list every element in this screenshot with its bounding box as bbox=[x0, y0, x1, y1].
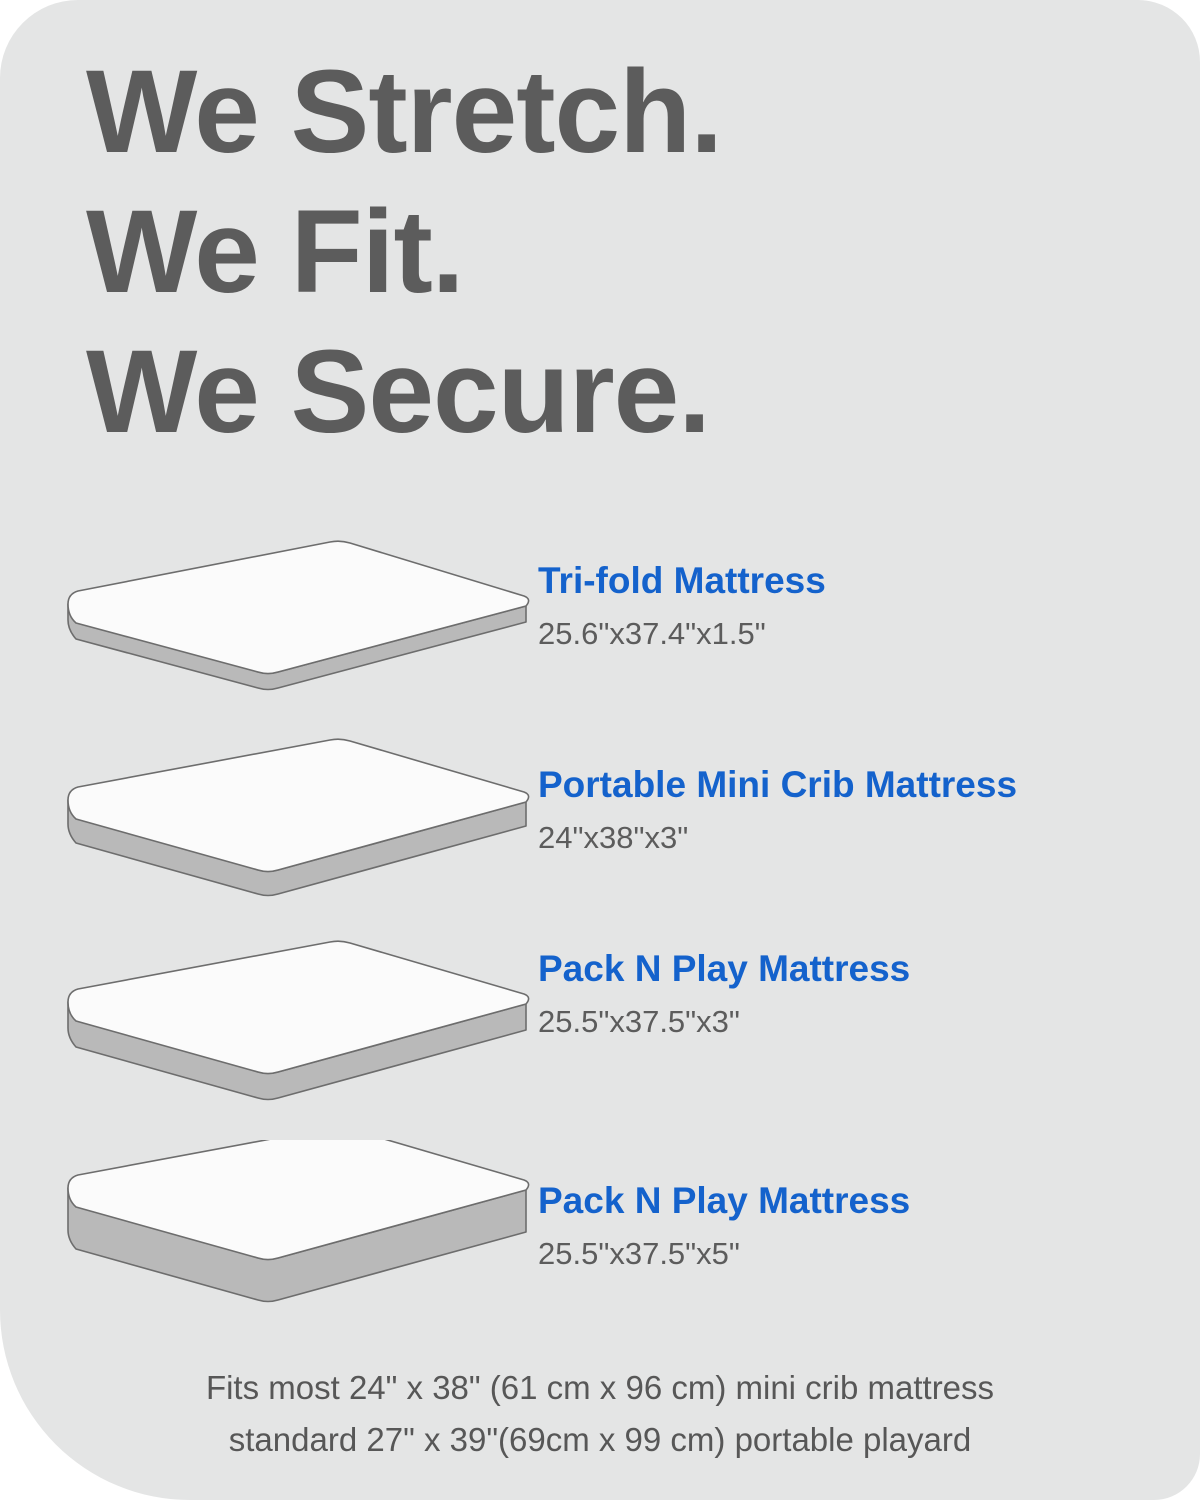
product-row: Tri-fold Mattress 25.6"x37.4"x1.5" bbox=[0, 538, 1200, 728]
mattress-isometric-icon bbox=[62, 538, 532, 728]
product-title: Pack N Play Mattress bbox=[538, 946, 1178, 992]
fit-note-line-2: standard 27" x 39"(69cm x 99 cm) portabl… bbox=[0, 1414, 1200, 1466]
product-title: Portable Mini Crib Mattress bbox=[538, 762, 1178, 808]
product-copy: Portable Mini Crib Mattress 24"x38"x3" bbox=[538, 762, 1178, 859]
page-title: We Stretch. We Fit. We Secure. bbox=[86, 42, 1086, 462]
product-infographic: We Stretch. We Fit. We Secure. Tri-fold … bbox=[0, 0, 1200, 1500]
headline-line-2: We Fit. bbox=[86, 182, 1086, 322]
product-row: Portable Mini Crib Mattress 24"x38"x3" bbox=[0, 738, 1200, 928]
headline-line-1: We Stretch. bbox=[86, 42, 1086, 182]
product-dimensions: 24"x38"x3" bbox=[538, 817, 1178, 859]
mattress-isometric-icon bbox=[62, 930, 532, 1120]
mattress-isometric-icon bbox=[62, 1140, 532, 1330]
fit-note: Fits most 24" x 38" (61 cm x 96 cm) mini… bbox=[0, 1362, 1200, 1466]
product-copy: Pack N Play Mattress 25.5"x37.5"x3" bbox=[538, 946, 1178, 1043]
product-dimensions: 25.5"x37.5"x5" bbox=[538, 1233, 1178, 1275]
mattress-isometric-icon bbox=[62, 738, 532, 928]
headline-line-3: We Secure. bbox=[86, 322, 1086, 462]
fit-note-line-1: Fits most 24" x 38" (61 cm x 96 cm) mini… bbox=[0, 1362, 1200, 1414]
product-dimensions: 25.5"x37.5"x3" bbox=[538, 1001, 1178, 1043]
product-row: Pack N Play Mattress 25.5"x37.5"x5" bbox=[0, 1140, 1200, 1330]
product-dimensions: 25.6"x37.4"x1.5" bbox=[538, 613, 1178, 655]
product-title: Tri-fold Mattress bbox=[538, 558, 1178, 604]
product-row: Pack N Play Mattress 25.5"x37.5"x3" bbox=[0, 930, 1200, 1120]
product-title: Pack N Play Mattress bbox=[538, 1178, 1178, 1224]
product-copy: Tri-fold Mattress 25.6"x37.4"x1.5" bbox=[538, 558, 1178, 655]
product-copy: Pack N Play Mattress 25.5"x37.5"x5" bbox=[538, 1178, 1178, 1275]
